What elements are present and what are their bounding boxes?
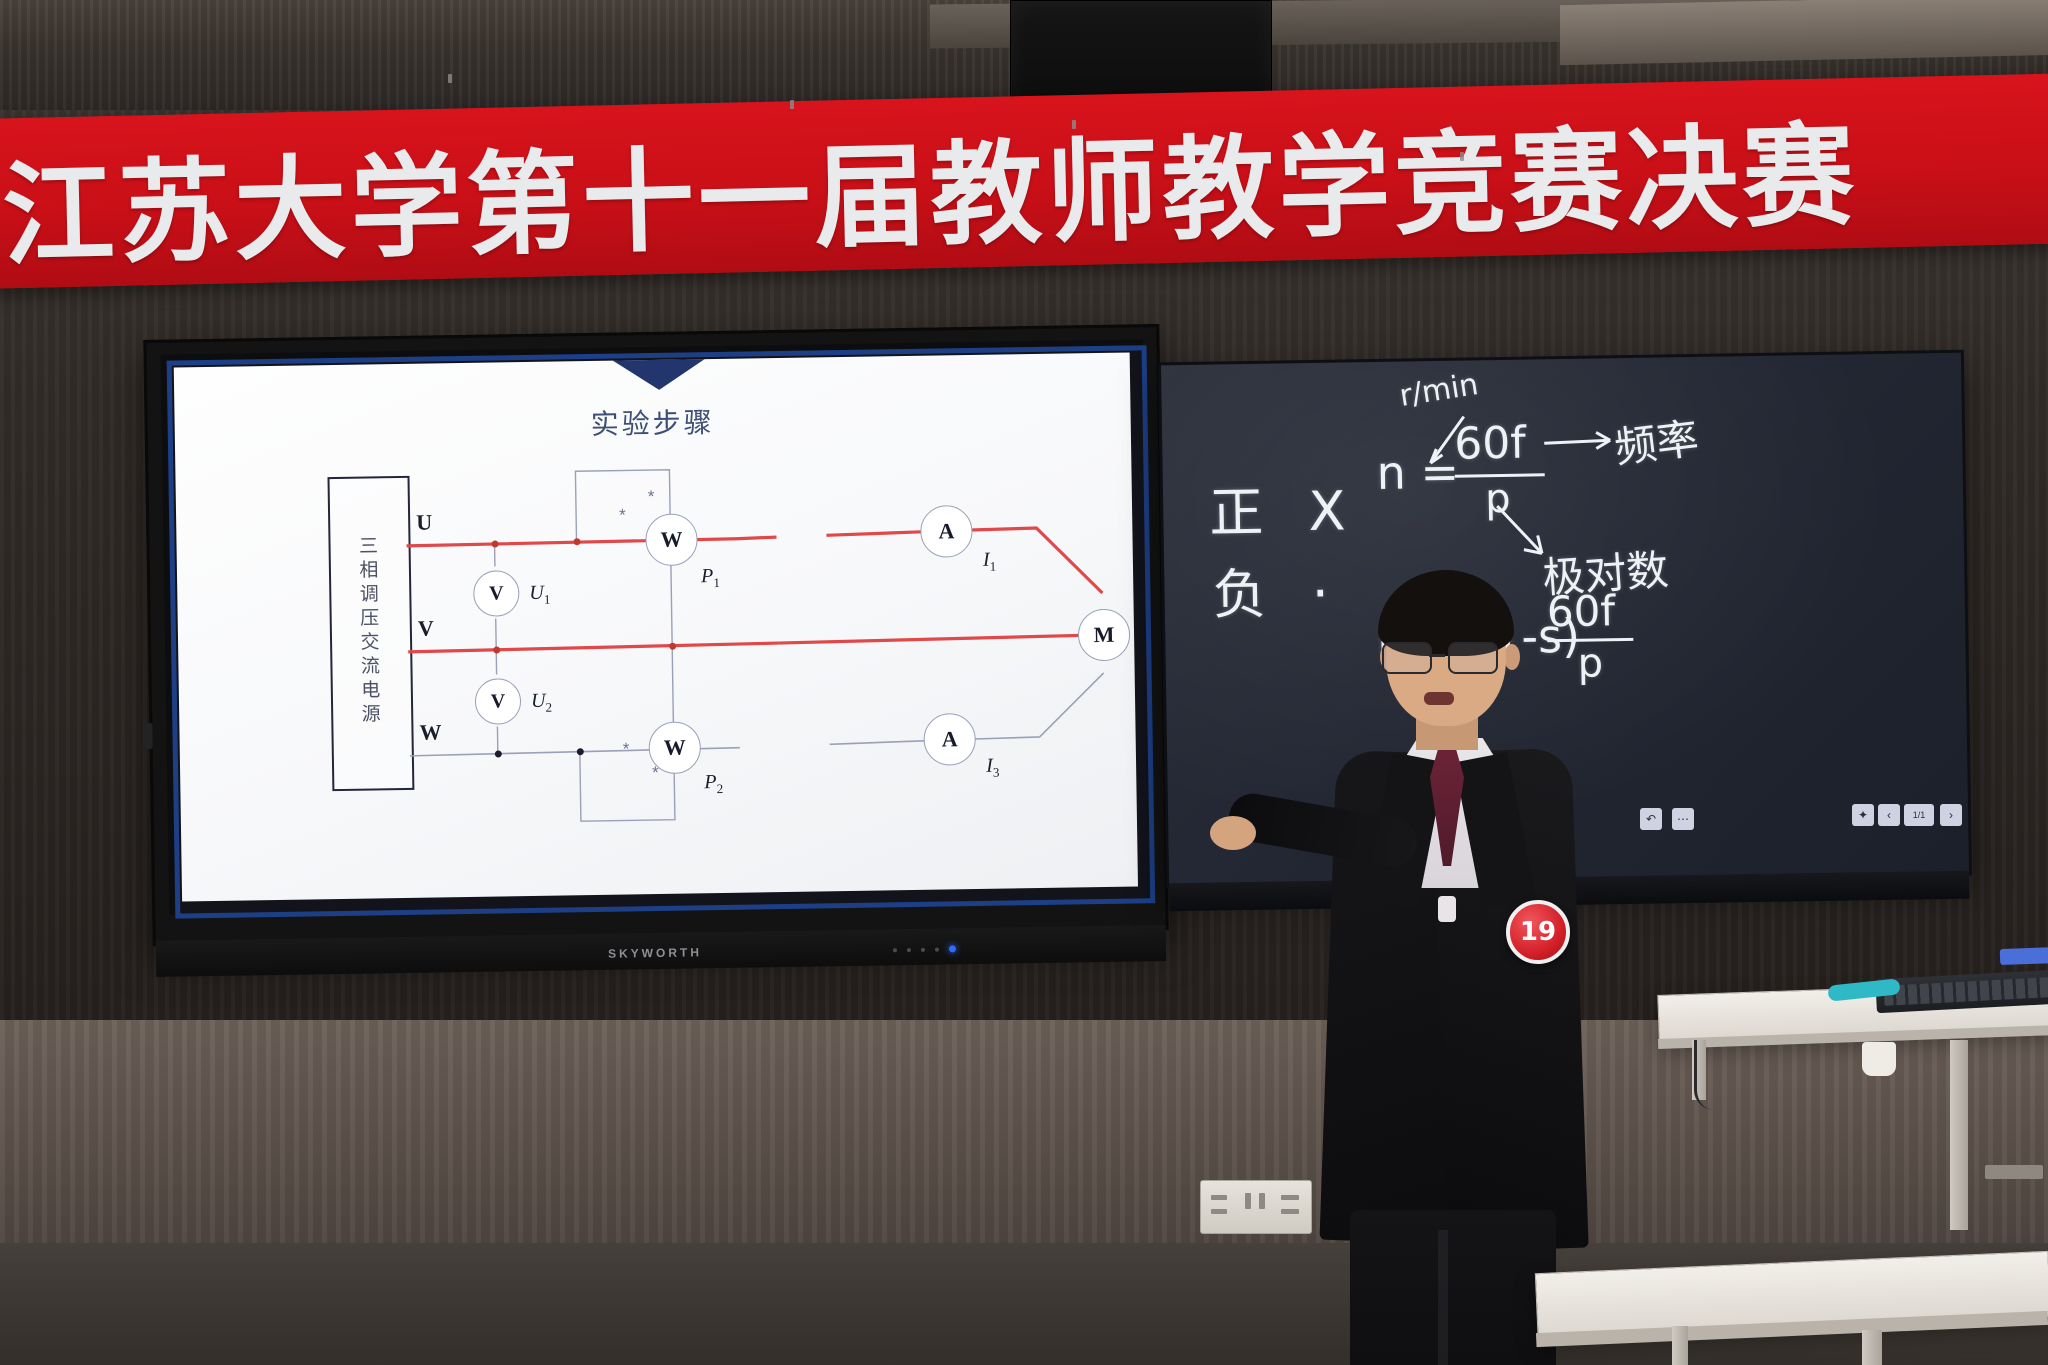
wattmeter-p1-star-b: * bbox=[648, 488, 655, 505]
next-icon[interactable]: › bbox=[1940, 804, 1962, 826]
voltmeter-u2-label: U2 bbox=[531, 690, 552, 716]
desk-cable bbox=[1694, 1040, 1737, 1110]
junction-node bbox=[495, 750, 502, 757]
mouth bbox=[1424, 692, 1454, 705]
trousers bbox=[1350, 1210, 1556, 1365]
junction-node bbox=[493, 646, 500, 653]
ammeter-i1-label: I1 bbox=[983, 549, 997, 575]
more-icon[interactable]: ⋯ bbox=[1672, 808, 1694, 830]
banner-pin bbox=[1460, 152, 1464, 161]
interactive-flat-panel-left[interactable]: 实验步骤 三相调压交流电源 bbox=[143, 324, 1168, 946]
chalk-positive-mark: 正 X bbox=[1209, 466, 1360, 547]
contestant-number-badge: 19 bbox=[1506, 900, 1570, 964]
blue-marker-box bbox=[2000, 947, 2048, 965]
junction-node bbox=[491, 540, 498, 547]
wall-socket-panel[interactable] bbox=[1200, 1180, 1312, 1234]
banner-pin bbox=[1072, 120, 1076, 129]
wattmeter-p1-label: P1 bbox=[701, 565, 720, 591]
desk-leg bbox=[1862, 1330, 1882, 1365]
wall-wainscot-texture bbox=[0, 1020, 2048, 1250]
circuit-wires bbox=[174, 353, 1138, 902]
trouser-seam bbox=[1438, 1230, 1448, 1365]
undo-icon[interactable]: ↶ bbox=[1640, 808, 1662, 830]
eyeglasses-icon bbox=[1382, 642, 1510, 672]
banner-pin bbox=[448, 74, 452, 83]
junction-node bbox=[577, 748, 584, 755]
chalk-frequency-note: 频率 bbox=[1611, 405, 1702, 476]
star-icon[interactable]: ✦ bbox=[1852, 804, 1874, 826]
lapel-microphone bbox=[1438, 896, 1456, 922]
phase-label-u: U bbox=[416, 510, 432, 536]
screenshot-root: 江苏大学第十一届教师教学竞赛决赛 实验步骤 三相调压交流电源 bbox=[0, 0, 2048, 1365]
cup bbox=[1862, 1042, 1896, 1076]
phase-label-w: W bbox=[419, 719, 441, 745]
wattmeter-p2-star-a: * bbox=[623, 740, 630, 757]
desk-leg bbox=[1950, 1040, 1968, 1230]
panel-brand-logo: SKYWORTH bbox=[608, 945, 702, 960]
wattmeter-p1-star-a: * bbox=[619, 506, 626, 523]
monitor-stand bbox=[1672, 1326, 1688, 1365]
panel-side-button[interactable] bbox=[144, 723, 152, 749]
pointing-hand bbox=[1210, 816, 1256, 850]
chalk-formula2-denominator: p bbox=[1577, 640, 1603, 686]
ceiling-beam-right bbox=[1560, 0, 2048, 65]
presenter: 19 bbox=[1320, 570, 1580, 1365]
ammeter-i3-label: I3 bbox=[986, 755, 1000, 781]
chalk-formula1-lhs: n = bbox=[1376, 445, 1459, 500]
back-icon[interactable]: ‹ bbox=[1878, 804, 1900, 826]
phase-label-v: V bbox=[418, 615, 434, 641]
chalk-formula1-numerator: 60f bbox=[1454, 418, 1526, 470]
wattmeter-p2-label: P2 bbox=[704, 771, 723, 797]
junction-node bbox=[669, 643, 676, 650]
junction-node bbox=[573, 538, 580, 545]
page-indicator: 1/1 bbox=[1904, 804, 1934, 826]
presentation-slide[interactable]: 实验步骤 三相调压交流电源 bbox=[174, 353, 1138, 902]
circuit-diagram: 三相调压交流电源 bbox=[174, 353, 1138, 902]
banner-pin bbox=[790, 100, 794, 109]
panel-status-leds bbox=[893, 945, 956, 953]
wall-vent bbox=[1985, 1165, 2043, 1179]
wattmeter-p2-star-b: * bbox=[652, 764, 659, 781]
voltmeter-u1-label: U1 bbox=[529, 582, 550, 608]
